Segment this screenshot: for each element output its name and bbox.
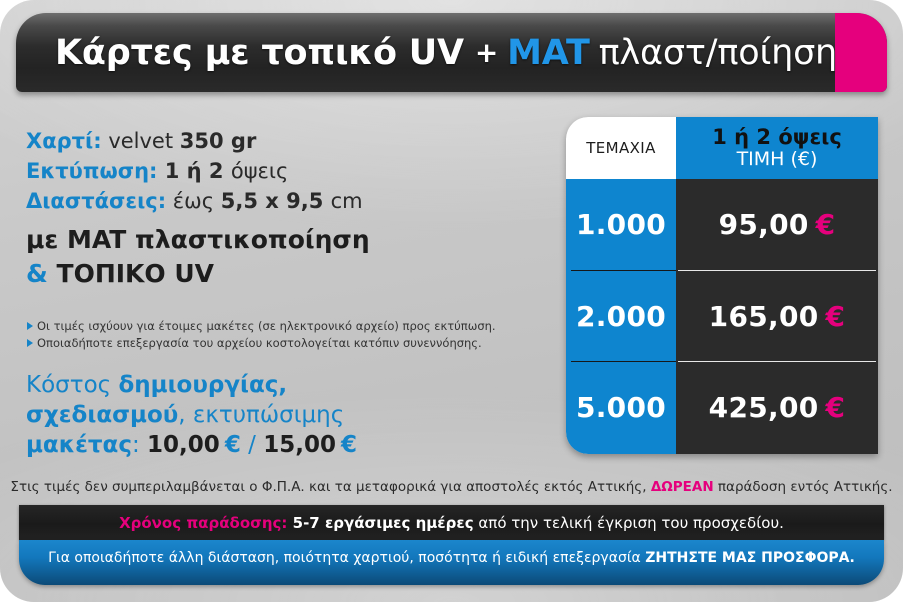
spec-value-printing-bold: 1 ή 2 bbox=[157, 159, 230, 183]
quote-request-text: Για οποιαδήποτε άλλη διάσταση, ποιότητα … bbox=[48, 550, 855, 575]
spec-value-paper-bold: 350 gr bbox=[180, 129, 257, 153]
spec-label-printing: Εκτύπωση: bbox=[26, 159, 157, 183]
finish-ampersand: & bbox=[26, 259, 48, 288]
quote-request-cta: ΖΗΤΗΣΤΕ ΜΑΣ ΠΡΟΣΦΟΡΑ. bbox=[645, 550, 855, 566]
cost-line-1: Κόστος δημιουργίας, bbox=[26, 370, 506, 400]
table-header-quantity: ΤΕΜΑΧΙΑ bbox=[566, 117, 676, 179]
spec-row-dimensions: Διαστάσεις: έως 5,5 x 9,5 cm bbox=[26, 186, 526, 216]
cost-text-bold-3: μακέτας bbox=[26, 432, 132, 458]
table-header-price-line2: ΤΙΜΗ (€) bbox=[737, 150, 818, 169]
cost-currency-b: € bbox=[341, 432, 357, 458]
quote-request-strip[interactable]: Για οποιαδήποτε άλλη διάσταση, ποιότητα … bbox=[19, 540, 884, 585]
title-highlight: MAT bbox=[507, 33, 589, 73]
price-card: Κάρτες με τοπικό UV + MAT πλαστ/ποίηση Χ… bbox=[0, 0, 903, 602]
table-row: 1.000 bbox=[566, 179, 676, 271]
table-header-price: 1 ή 2 όψεις ΤΙΜΗ (€) bbox=[676, 117, 878, 179]
specs-list: Χαρτί: velvet 350 gr Εκτύπωση: 1 ή 2 όψε… bbox=[26, 126, 526, 291]
title-main: Κάρτες με τοπικό UV bbox=[55, 33, 464, 73]
header-bar: Κάρτες με τοπικό UV + MAT πλαστ/ποίηση bbox=[16, 13, 887, 92]
bullet-text: Οι τιμές ισχύουν για έτοιμες μακέτες (σε… bbox=[37, 318, 496, 335]
spec-value-dimensions-plain: έως bbox=[166, 189, 221, 213]
spec-value-dimensions-bold: 5,5 x 9,5 bbox=[221, 189, 331, 213]
quantity-value: 1.000 bbox=[576, 208, 666, 241]
vat-note: Στις τιμές δεν συμπεριλαμβάνεται ο Φ.Π.Α… bbox=[0, 479, 903, 495]
delivery-time-days: 5-7 εργάσιμες ημέρες bbox=[287, 514, 473, 532]
price-value: 425,00 bbox=[709, 391, 819, 424]
bullet-list: Οι τιμές ισχύουν για έτοιμες μακέτες (σε… bbox=[27, 318, 497, 352]
table-row: 5.000 bbox=[566, 362, 676, 454]
table-row: 2.000 bbox=[566, 271, 676, 363]
finish-line-2: & ΤΟΠΙΚΟ UV bbox=[26, 257, 526, 291]
currency-symbol: € bbox=[826, 300, 846, 333]
title-plus: + bbox=[464, 36, 507, 69]
page-title: Κάρτες με τοπικό UV + MAT πλαστ/ποίηση bbox=[55, 13, 837, 92]
table-header-price-line1: 1 ή 2 όψεις bbox=[712, 127, 842, 148]
arrow-right-icon bbox=[27, 339, 33, 347]
cost-colon: : bbox=[132, 432, 147, 458]
spec-row-paper: Χαρτί: velvet 350 gr bbox=[26, 126, 526, 156]
table-row: 425,00 € bbox=[676, 362, 878, 454]
vat-note-pre: Στις τιμές δεν συμπεριλαμβάνεται ο Φ.Π.Α… bbox=[10, 479, 650, 495]
cost-text-bold-2: σχεδιασμού bbox=[26, 402, 178, 428]
table-header-quantity-label: ΤΕΜΑΧΙΑ bbox=[586, 139, 656, 157]
delivery-time-label: Χρόνος παράδοσης: bbox=[119, 514, 287, 532]
table-row: 95,00 € bbox=[676, 179, 878, 271]
bullet-item: Οι τιμές ισχύουν για έτοιμες μακέτες (σε… bbox=[27, 318, 497, 335]
price-table: ΤΕΜΑΧΙΑ 1 ή 2 όψεις ΤΙΜΗ (€) 1.000 95,00… bbox=[566, 117, 878, 454]
cost-line-3: μακέτας: 10,00€ / 15,00€ bbox=[26, 430, 506, 460]
title-tail: πλαστ/ποίηση bbox=[599, 33, 837, 73]
spec-label-dimensions: Διαστάσεις: bbox=[26, 189, 166, 213]
delivery-time-strip: Χρόνος παράδοσης: 5-7 εργάσιμες ημέρες α… bbox=[19, 505, 884, 540]
spec-value-printing-plain: όψεις bbox=[231, 159, 288, 183]
quote-request-pre: Για οποιαδήποτε άλλη διάσταση, ποιότητα … bbox=[48, 550, 645, 566]
delivery-time-text: Χρόνος παράδοσης: 5-7 εργάσιμες ημέρες α… bbox=[119, 514, 784, 532]
cost-line-2: σχεδιασμού, εκτυπώσιμης bbox=[26, 400, 506, 430]
cost-text-plain-1: Κόστος bbox=[26, 372, 118, 398]
design-cost-block: Κόστος δημιουργίας, σχεδιασμού, εκτυπώσι… bbox=[26, 370, 506, 460]
finish-line-1: με MAT πλαστικοποίηση bbox=[26, 223, 526, 257]
delivery-time-rest: από την τελική έγκριση του προσχεδίου. bbox=[474, 514, 784, 532]
quantity-value: 2.000 bbox=[576, 300, 666, 333]
cost-text-plain-2: , εκτυπώσιμης bbox=[178, 402, 344, 428]
vat-note-post: παράδοση εντός Αττικής. bbox=[714, 479, 893, 495]
bullet-item: Οποιαδήποτε επεξεργασία του αρχείου κοστ… bbox=[27, 335, 497, 352]
cost-price-a: 10,00 bbox=[147, 432, 220, 458]
table-row: 165,00 € bbox=[676, 271, 878, 363]
cost-text-bold-1: δημιουργίας, bbox=[118, 372, 287, 398]
spec-value-dimensions-unit: cm bbox=[331, 189, 363, 213]
quantity-value: 5.000 bbox=[576, 391, 666, 424]
cost-price-b: 15,00 bbox=[263, 432, 336, 458]
currency-symbol: € bbox=[816, 208, 836, 241]
free-delivery-badge: ΔΩΡΕΑΝ bbox=[651, 479, 714, 495]
finish-text-2: ΤΟΠΙΚΟ UV bbox=[48, 259, 214, 288]
header-magenta-accent bbox=[835, 13, 887, 92]
bullet-text: Οποιαδήποτε επεξεργασία του αρχείου κοστ… bbox=[37, 335, 482, 352]
spec-row-printing: Εκτύπωση: 1 ή 2 όψεις bbox=[26, 156, 526, 186]
price-value: 95,00 bbox=[719, 208, 809, 241]
finish-text-1: με MAT πλαστικοποίηση bbox=[26, 225, 370, 254]
currency-symbol: € bbox=[826, 391, 846, 424]
spec-label-paper: Χαρτί: bbox=[26, 129, 102, 153]
price-value: 165,00 bbox=[709, 300, 819, 333]
arrow-right-icon bbox=[27, 322, 33, 330]
spec-value-paper-plain: velvet bbox=[102, 129, 180, 153]
cost-separator: / bbox=[241, 432, 263, 458]
cost-currency-a: € bbox=[225, 432, 241, 458]
